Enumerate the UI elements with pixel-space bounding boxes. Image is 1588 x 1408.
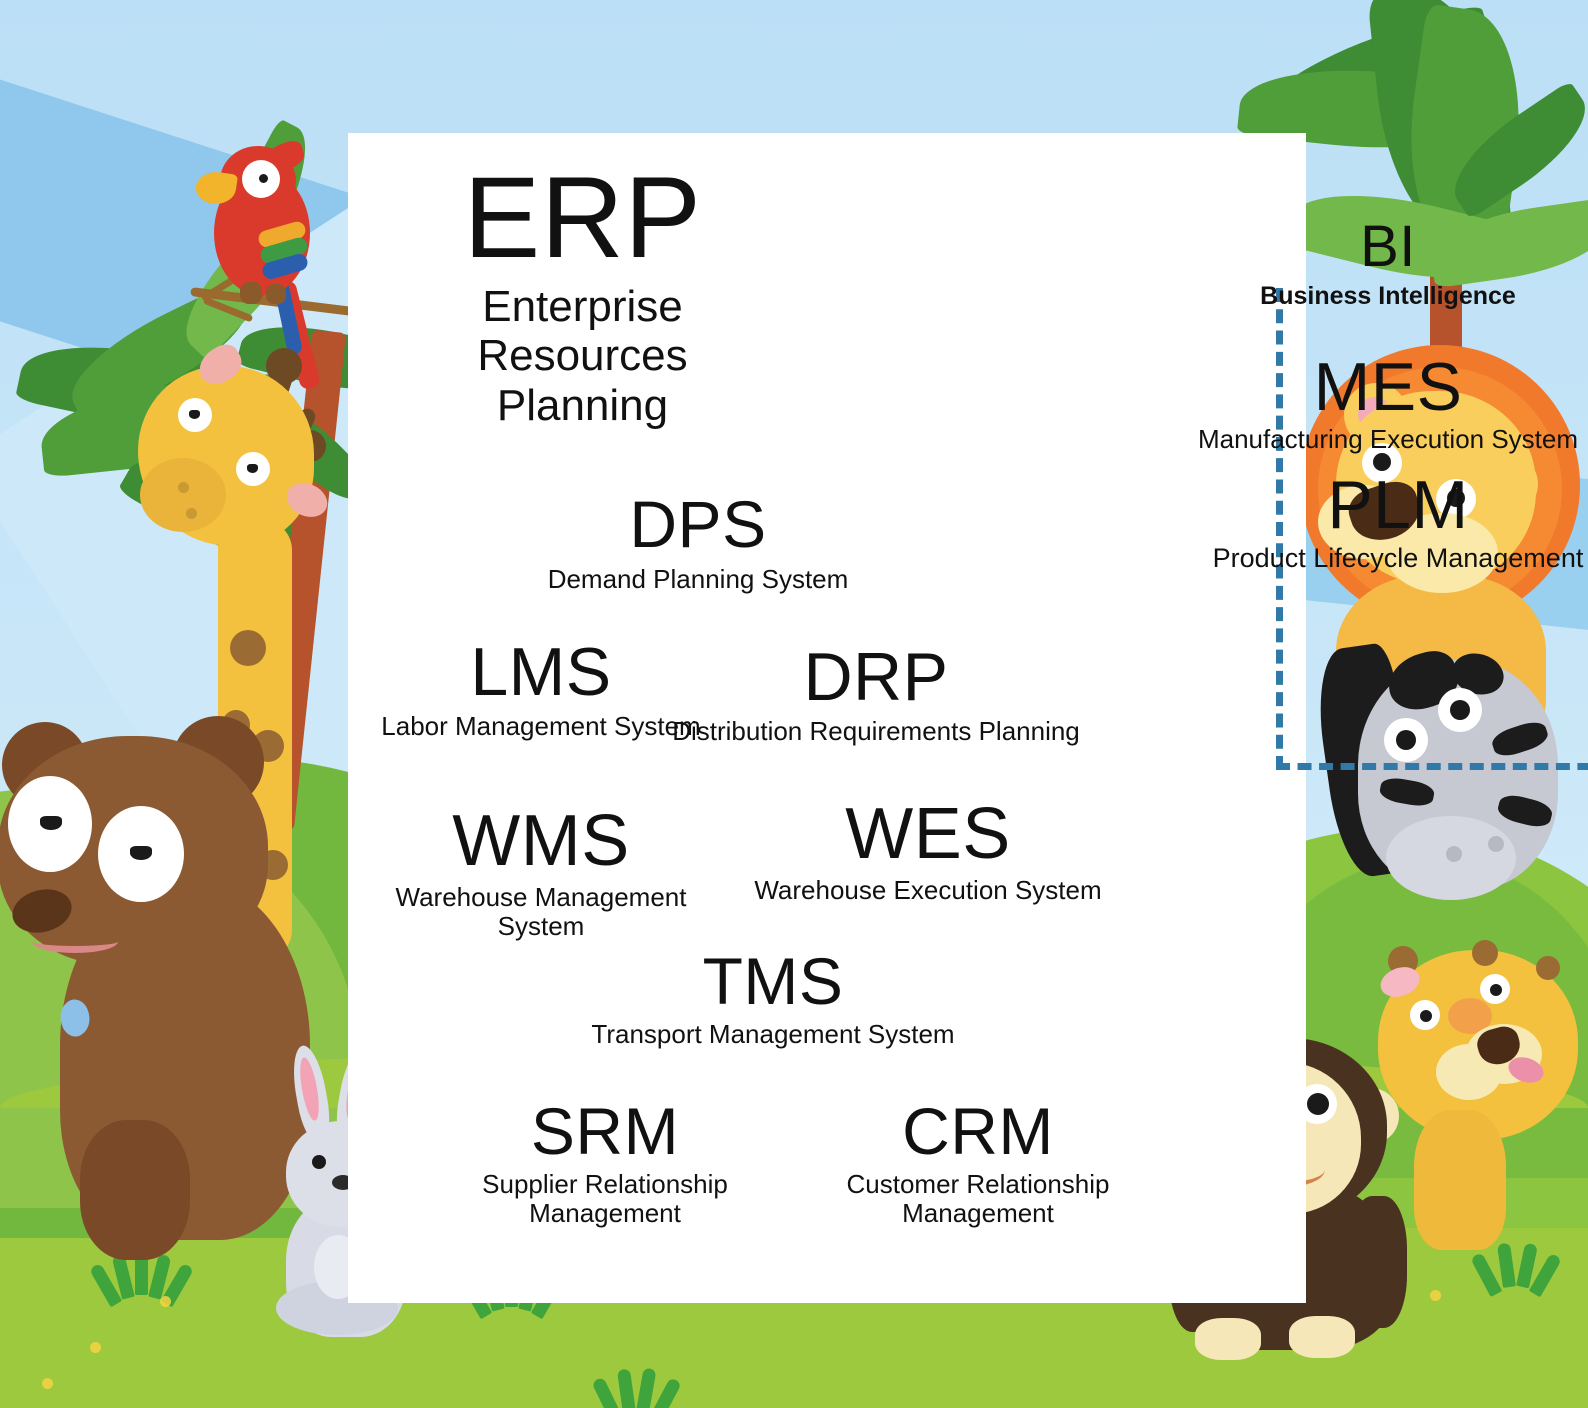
giraffe-nostril: [178, 482, 189, 493]
monkey-foot: [1195, 1318, 1261, 1360]
system-name-erp-line3: Planning: [410, 381, 755, 430]
giraffe-pupil: [247, 464, 258, 473]
flower-dot: [42, 1378, 53, 1389]
system-name-mes: Manufacturing Execution System: [1178, 425, 1588, 454]
system-acronym-wms: WMS: [351, 805, 731, 877]
system-acronym-srm: SRM: [410, 1098, 800, 1164]
system-block-tms: TMS Transport Management System: [583, 948, 963, 1049]
system-name-drp: Distribution Requirements Planning: [666, 717, 1086, 746]
giraffe-nostril: [186, 508, 197, 519]
flower-dot: [90, 1342, 101, 1353]
system-block-wes: WES Warehouse Execution System: [738, 798, 1118, 905]
system-acronym-crm: CRM: [778, 1098, 1178, 1164]
giraffe-muzzle: [140, 458, 226, 532]
monkey-foot: [1289, 1316, 1355, 1358]
system-block-wms: WMS Warehouse Management System: [351, 805, 731, 941]
giraffe-spot: [230, 630, 266, 666]
flower-dot: [160, 1296, 171, 1307]
system-block-bi: BI Business Intelligence: [1218, 218, 1558, 310]
system-acronym-erp: ERP: [410, 161, 755, 276]
system-name-lms: Labor Management System: [366, 712, 716, 741]
giraffe-pupil: [189, 410, 200, 419]
leopard-pupil: [1490, 984, 1502, 996]
monkey-pupil: [1307, 1093, 1329, 1115]
parrot-foot: [240, 282, 262, 304]
bear-pupil: [130, 846, 152, 860]
system-block-plm: PLM Product Lifecycle Management: [1188, 471, 1588, 573]
system-block-lms: LMS Labor Management System: [366, 638, 716, 741]
rabbit-eye: [312, 1155, 326, 1169]
system-block-crm: CRM Customer Relationship Management: [778, 1098, 1178, 1228]
leopard-spot: [1472, 940, 1498, 966]
system-acronym-lms: LMS: [366, 638, 716, 706]
system-block-dps: DPS Demand Planning System: [488, 491, 908, 594]
monkey-arm: [1349, 1196, 1407, 1328]
system-name-bi: Business Intelligence: [1218, 282, 1558, 310]
leopard-spot: [1536, 956, 1560, 980]
flower-dot: [1430, 1290, 1441, 1301]
system-acronym-tms: TMS: [583, 948, 963, 1014]
system-block-drp: DRP Distribution Requirements Planning: [666, 643, 1086, 746]
system-acronym-plm: PLM: [1188, 471, 1588, 539]
system-acronym-mes: MES: [1178, 353, 1588, 421]
bear-leg: [80, 1120, 190, 1260]
content-panel: ERP Enterprise Resources Planning DPS De…: [348, 133, 1306, 1303]
system-name-erp-line2: Resources: [410, 331, 755, 380]
zebra-nostril: [1488, 836, 1504, 852]
poster-canvas: ERP Enterprise Resources Planning DPS De…: [0, 0, 1588, 1408]
system-acronym-bi: BI: [1218, 218, 1558, 276]
system-name-srm: Supplier Relationship Management: [410, 1170, 800, 1228]
system-acronym-dps: DPS: [488, 491, 908, 557]
bear-pupil: [40, 816, 62, 830]
parrot-pupil: [259, 174, 268, 183]
system-block-erp: ERP Enterprise Resources Planning: [410, 161, 755, 430]
system-block-srm: SRM Supplier Relationship Management: [410, 1098, 800, 1228]
system-acronym-drp: DRP: [666, 643, 1086, 711]
system-block-mes: MES Manufacturing Execution System: [1178, 353, 1588, 454]
bear-mouth: [32, 930, 118, 953]
system-name-dps: Demand Planning System: [488, 565, 908, 594]
system-name-erp-line1: Enterprise: [410, 282, 755, 331]
system-name-wes: Warehouse Execution System: [738, 876, 1118, 905]
system-name-tms: Transport Management System: [583, 1020, 963, 1049]
parrot-foot: [266, 284, 286, 304]
system-name-plm: Product Lifecycle Management: [1188, 543, 1588, 573]
zebra-nostril: [1446, 846, 1462, 862]
system-acronym-wes: WES: [738, 798, 1118, 870]
system-name-wms: Warehouse Management System: [351, 883, 731, 941]
system-name-crm: Customer Relationship Management: [778, 1170, 1178, 1228]
leopard-body: [1414, 1110, 1506, 1250]
